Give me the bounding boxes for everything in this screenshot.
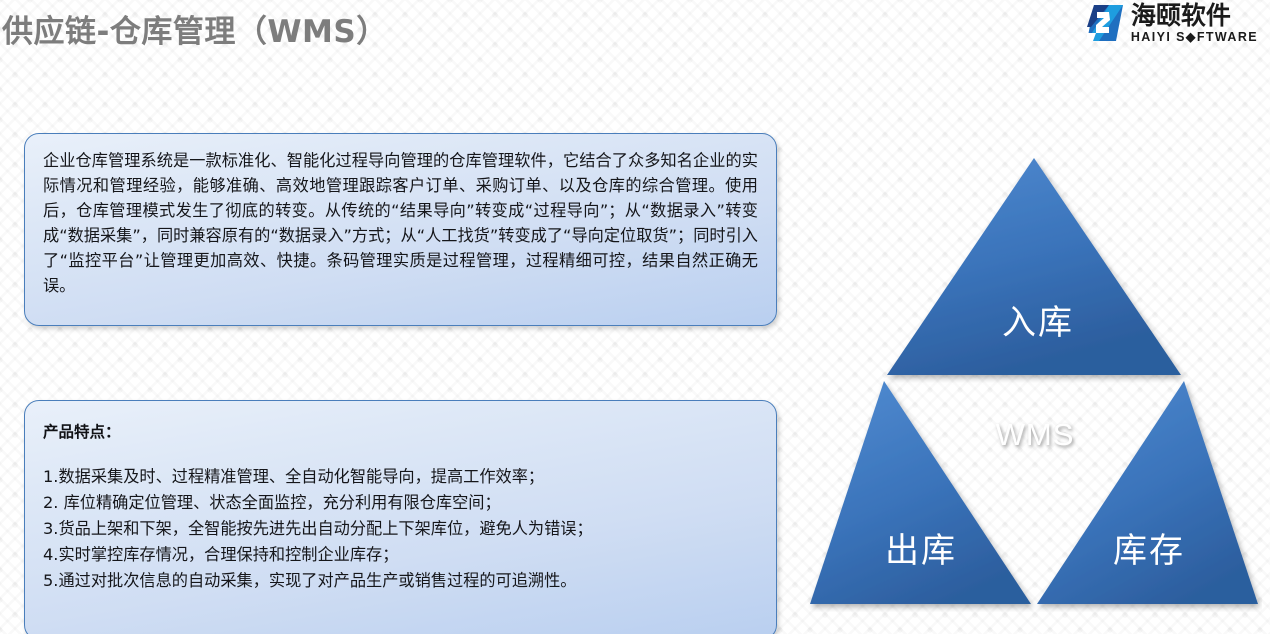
haiyi-logo-mark-icon [1085, 3, 1125, 43]
feature-item-1: 1.数据采集及时、过程精准管理、全自动化智能导向，提高工作效率； [43, 464, 758, 490]
pyramid-segment-bottom-right[interactable]: 库存 [1037, 381, 1258, 604]
wms-pyramid-diagram: 入库 出库 库存 WMS [806, 152, 1262, 612]
pyramid-segment-bottom-left-label: 出库 [885, 531, 957, 571]
intro-callout-box: 企业仓库管理系统是一款标准化、智能化过程导向管理的仓库管理软件，它结合了众多知名… [24, 133, 777, 326]
logo-company-cn: 海颐软件 [1131, 3, 1258, 28]
feature-item-3: 3.货品上架和下架，全智能按先进先出自动分配上下架库位，避免人为错误； [43, 516, 758, 542]
intro-paragraph: 企业仓库管理系统是一款标准化、智能化过程导向管理的仓库管理软件，它结合了众多知名… [43, 148, 758, 298]
pyramid-segment-top-label: 入库 [1002, 303, 1074, 343]
page-title: 供应链-仓库管理（WMS） [2, 6, 388, 51]
pyramid-segment-bottom-left[interactable]: 出库 [810, 381, 1031, 604]
features-callout-box: 产品特点： 1.数据采集及时、过程精准管理、全自动化智能导向，提高工作效率； 2… [24, 400, 777, 634]
pyramid-center-label: WMS [996, 417, 1075, 452]
logo-wordmark: 海颐软件 HAIYI S◆FTWARE [1131, 3, 1258, 44]
pyramid-segment-top[interactable]: 入库 [887, 158, 1181, 375]
logo-company-en: HAIYI S◆FTWARE [1131, 31, 1258, 44]
company-logo: 海颐软件 HAIYI S◆FTWARE [1085, 2, 1258, 44]
pyramid-segment-bottom-right-label: 库存 [1113, 531, 1185, 571]
features-heading: 产品特点： [43, 420, 758, 442]
feature-item-4: 4.实时掌控库存情况，合理保持和控制企业库存； [43, 542, 758, 568]
feature-item-5: 5.通过对批次信息的自动采集，实现了对产品生产或销售过程的可追溯性。 [43, 568, 758, 594]
feature-item-2: 2. 库位精确定位管理、状态全面监控，充分利用有限仓库空间； [43, 490, 758, 516]
